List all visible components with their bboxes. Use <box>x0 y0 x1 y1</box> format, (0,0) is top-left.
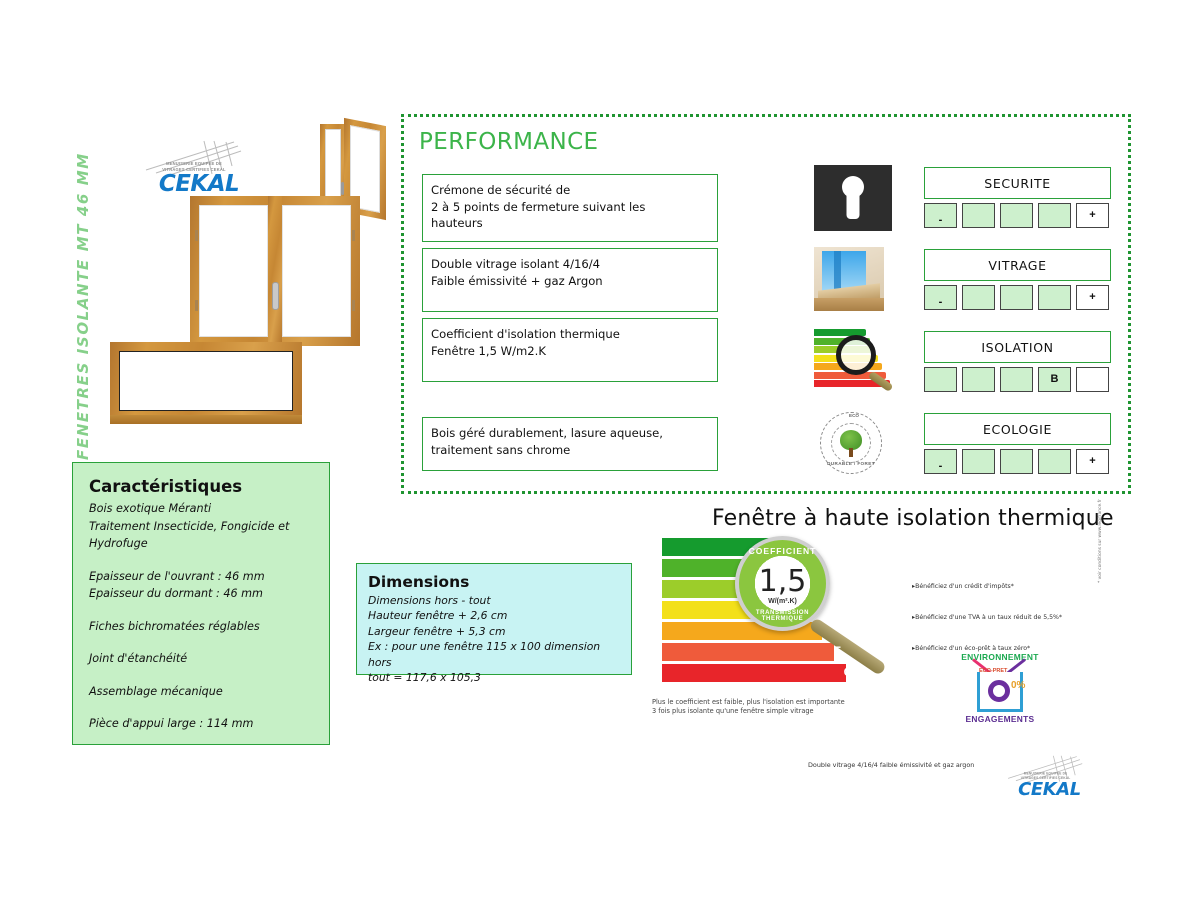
carac-line: Epaisseur du dormant : 46 mm <box>89 585 313 603</box>
grenelle-word-bottom: ENGAGEMENTS <box>955 714 1045 724</box>
rating-cell[interactable]: - <box>924 449 957 474</box>
promo-title: Fenêtre à haute isolation thermique <box>712 506 1114 531</box>
coefficient-magnifier: COEFFICIENT 1,5 W/(m².K) TRANSMISSION TH… <box>735 536 830 631</box>
carac-line: Hydrofuge <box>89 535 313 553</box>
vertical-product-title: FENETRES ISOLANTE MT 46 MM <box>74 152 92 460</box>
coefficient-value: 1,5 <box>739 564 826 599</box>
window-handle <box>272 282 279 310</box>
cekal-logo: MENUISERIE EQUIPEE DE VITRAGES CERTIFIES… <box>142 140 246 198</box>
promo-bullet: ▸Bénéficiez d'un crédit d'impôts* <box>912 582 1102 591</box>
rating-cell[interactable]: + <box>1076 285 1109 310</box>
two-leaf-window-image <box>190 196 360 346</box>
rating-row-securite: SECURITE - + <box>814 165 1114 243</box>
coefficient-arc-label: COEFFICIENT <box>739 546 826 556</box>
dim-line: Dimensions hors - tout <box>368 593 620 608</box>
dim-line: Largeur fenêtre + 5,3 cm <box>368 624 620 639</box>
carac-line: Fiches bichromatées réglables <box>89 618 313 636</box>
energy-bar-row: G <box>662 664 877 682</box>
window-mullion <box>268 196 282 346</box>
rating-cell[interactable] <box>1000 449 1033 474</box>
rating-cell[interactable] <box>1000 203 1033 228</box>
caracteristiques-title: Caractéristiques <box>89 477 313 496</box>
footer-note: Double vitrage 4/16/4 faible émissivité … <box>808 761 974 769</box>
window-hinge-upper-right <box>352 230 355 241</box>
rating-cell[interactable] <box>1000 285 1033 310</box>
window-hinge-lower-right <box>352 300 355 311</box>
transom-sill <box>110 415 302 424</box>
energy-magnifier-icon <box>814 329 892 395</box>
rating-cell[interactable]: + <box>1076 449 1109 474</box>
rating-cell[interactable] <box>962 367 995 392</box>
rating-row-isolation: ISOLATION B <box>814 329 1114 407</box>
rating-label-ecologie: ECOLOGIE <box>924 413 1111 445</box>
poster-canvas: FENETRES ISOLANTE MT 46 MM MENUISERIE EQ… <box>0 0 1202 901</box>
carac-line: Joint d'étanchéité <box>89 650 313 668</box>
carac-line: Traitement Insecticide, Fongicide et <box>89 518 313 536</box>
rating-cell[interactable]: - <box>924 203 957 228</box>
transom-pane <box>119 351 293 411</box>
rating-scale-isolation: B <box>924 367 1109 392</box>
carac-line: Pièce d'appui large : 114 mm <box>89 715 313 733</box>
rating-cell[interactable] <box>962 285 995 310</box>
keyhole-icon <box>814 165 892 231</box>
rating-cell[interactable] <box>1038 285 1071 310</box>
rating-scale-securite: - + <box>924 203 1109 228</box>
energy-label-note: Plus le coefficient est faible, plus l'i… <box>652 698 845 717</box>
cekal-logo-footer: MENUISERIE EQUIPEE DE VITRAGES CERTIFIES… <box>1005 755 1086 800</box>
rating-cell-active[interactable]: B <box>1038 367 1071 392</box>
performance-panel: PERFORMANCE Crémone de sécurité de 2 à 5… <box>401 114 1131 494</box>
rating-cell[interactable] <box>962 449 995 474</box>
window-hinge-lower <box>195 300 198 311</box>
cekal-wordmark: CEKAL <box>1014 779 1084 799</box>
grenelle-badge: ECO-PRET <box>979 668 1007 674</box>
rating-cell[interactable] <box>1038 449 1071 474</box>
rating-cell[interactable] <box>924 367 957 392</box>
rating-cell[interactable] <box>1000 367 1033 392</box>
rating-cell[interactable] <box>1038 203 1071 228</box>
performance-feature-box: Double vitrage isolant 4/16/4 Faible émi… <box>422 248 718 312</box>
eco-stamp-icon: ECODURABLE / FORET <box>814 411 892 477</box>
rating-label-vitrage: VITRAGE <box>924 249 1111 281</box>
grenelle-environnement-logo: ENVIRONNEMENT ECO-PRET 0% ENGAGEMENTS <box>955 650 1045 738</box>
rating-scale-vitrage: - + <box>924 285 1109 310</box>
carac-line: Bois exotique Méranti <box>89 500 313 518</box>
rating-label-isolation: ISOLATION <box>924 331 1111 363</box>
window-hinge-upper <box>195 230 198 241</box>
dimensions-title: Dimensions <box>368 573 620 591</box>
grenelle-percent: 0% <box>1011 680 1025 691</box>
rating-cell[interactable] <box>1076 367 1109 392</box>
window-pane-left <box>199 205 268 337</box>
carac-line: Assemblage mécanique <box>89 683 313 701</box>
energy-label-graphic: A F G COEFFICIENT 1,5 W/(m².K) TRANSMISS… <box>662 538 877 688</box>
sash-handle <box>341 182 344 195</box>
window-glazing-icon <box>814 247 892 313</box>
rating-label-securite: SECURITE <box>924 167 1111 199</box>
rating-row-ecologie: ECODURABLE / FORET ECOLOGIE - + <box>814 411 1114 489</box>
rating-scale-ecologie: - + <box>924 449 1109 474</box>
transom-window-image <box>110 342 302 424</box>
carac-line: Epaisseur de l'ouvrant : 46 mm <box>89 568 313 586</box>
dim-line: Ex : pour une fenêtre 115 x 100 dimensio… <box>368 639 620 670</box>
performance-feature-box: Bois géré durablement, lasure aqueuse, t… <box>422 417 718 471</box>
dimensions-box: Dimensions Dimensions hors - tout Hauteu… <box>356 563 632 675</box>
coefficient-unit: W/(m².K) <box>739 598 826 605</box>
performance-feature-box: Crémone de sécurité de 2 à 5 points de f… <box>422 174 718 242</box>
cekal-wordmark: CEKAL <box>154 171 244 197</box>
rating-cell[interactable]: + <box>1076 203 1109 228</box>
performance-feature-box: Coefficient d'isolation thermique Fenêtr… <box>422 318 718 382</box>
dim-line: tout = 117,6 x 105,3 <box>368 670 620 685</box>
caracteristiques-box: Caractéristiques Bois exotique Méranti T… <box>72 462 330 745</box>
dim-line: Hauteur fenêtre + 2,6 cm <box>368 608 620 623</box>
rating-cell[interactable]: - <box>924 285 957 310</box>
rating-cell[interactable] <box>962 203 995 228</box>
performance-title: PERFORMANCE <box>419 129 598 155</box>
window-pane-right <box>282 205 351 337</box>
grenelle-word-top: ENVIRONNEMENT <box>955 652 1045 662</box>
rating-row-vitrage: VITRAGE - + <box>814 247 1114 325</box>
side-legal-note: * voir conditions sur www.legifrance.fr <box>1098 499 1103 583</box>
promo-bullet: ▸Bénéficiez d'une TVA à un taux réduit d… <box>912 613 1102 622</box>
